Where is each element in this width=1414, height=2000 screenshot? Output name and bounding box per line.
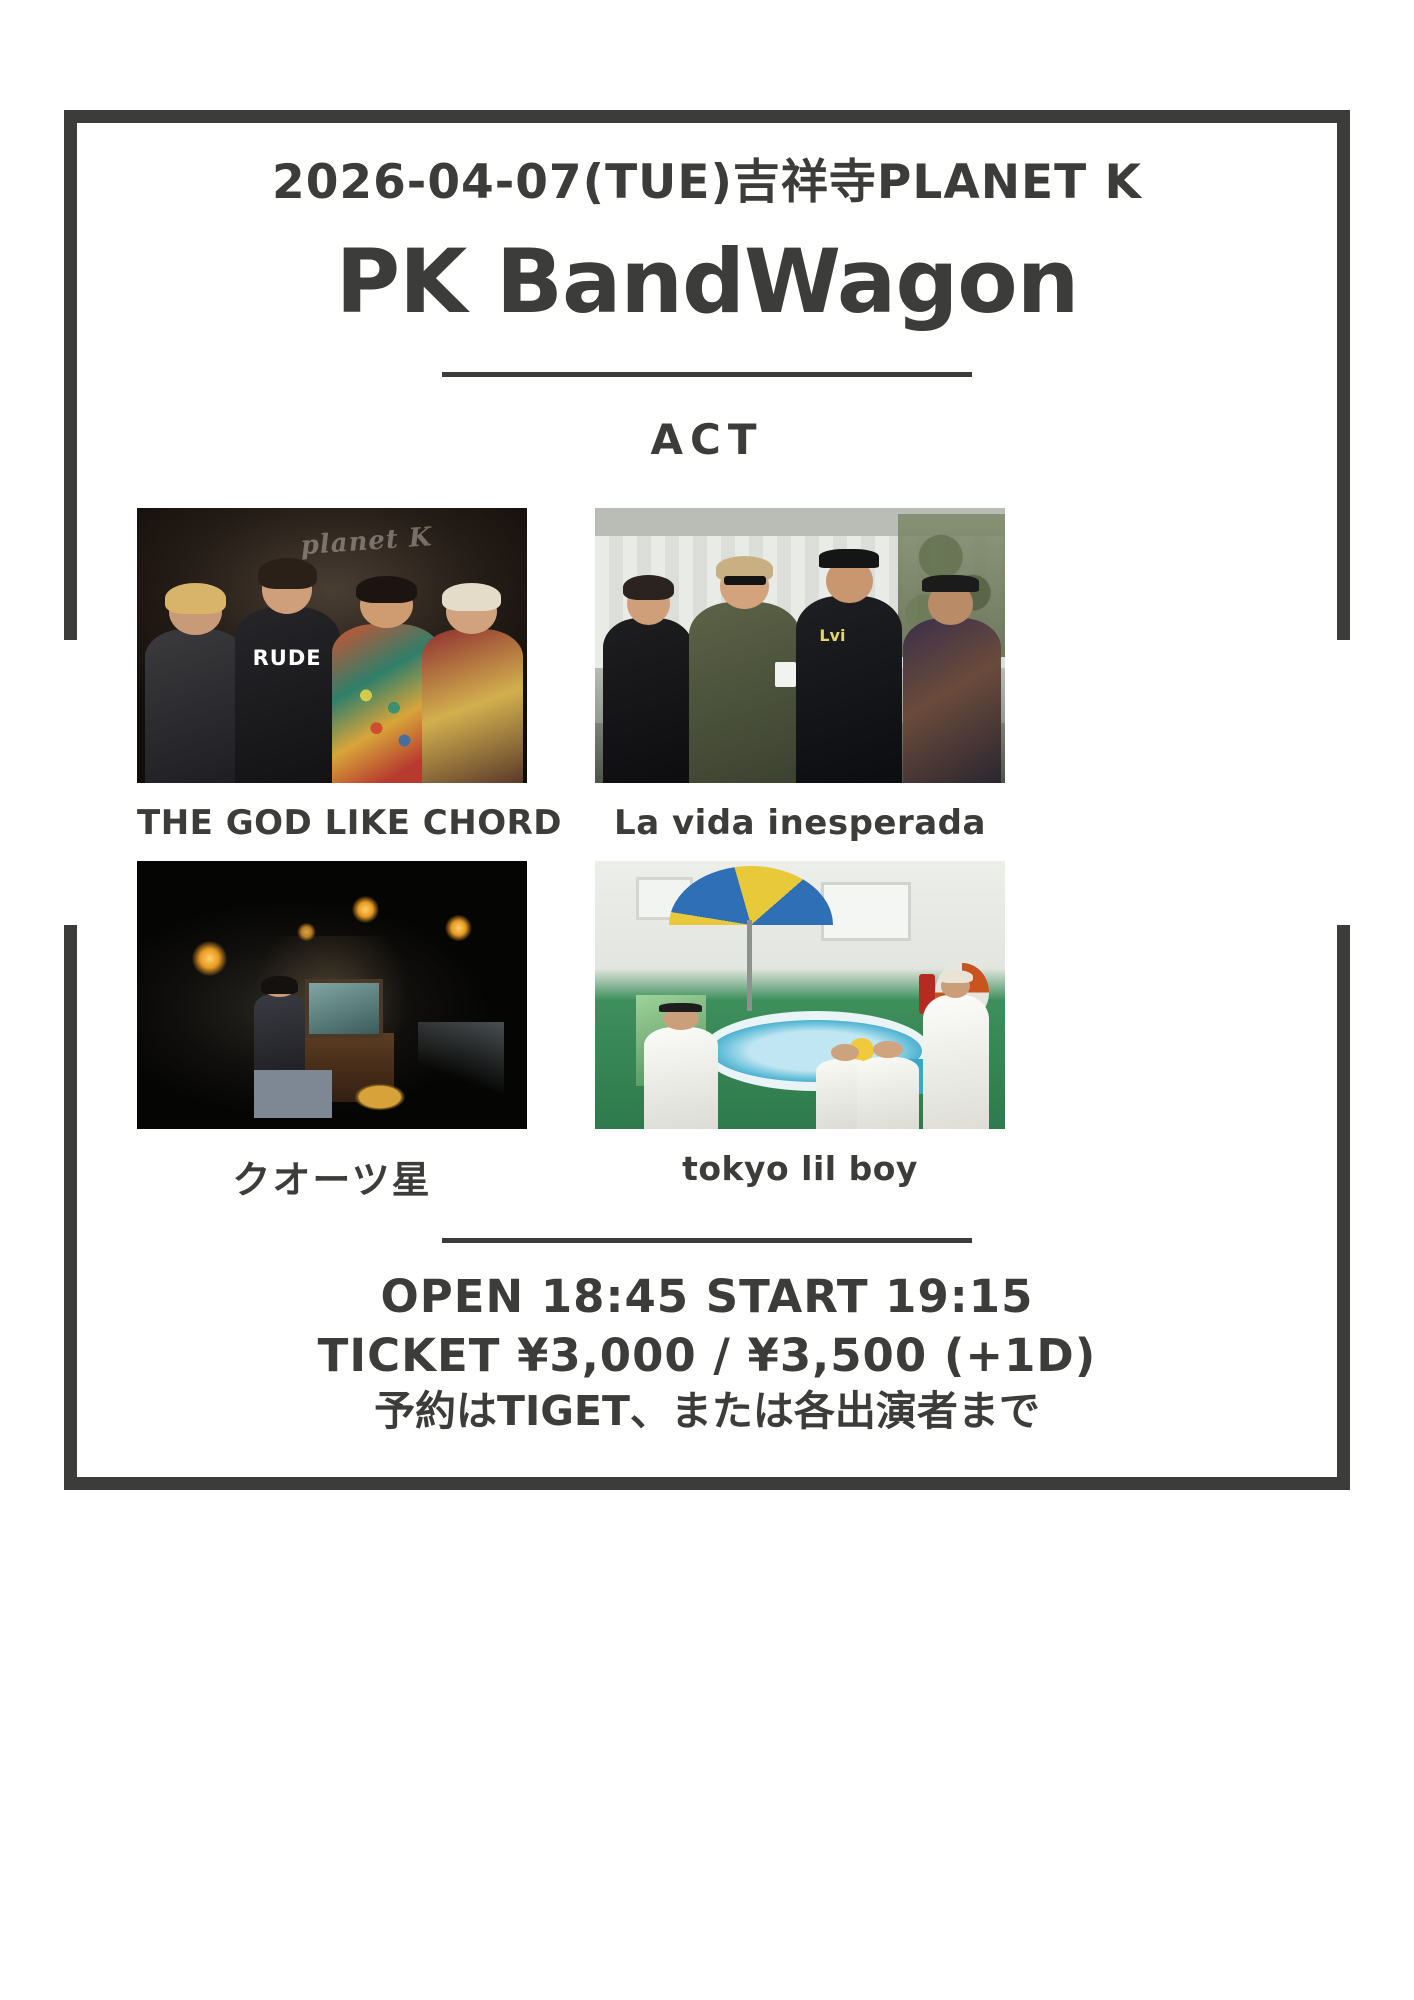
band-photo-tokyo-lil-boy <box>595 861 1005 1129</box>
band-member-legs <box>254 1070 332 1118</box>
info-ticket: TICKET ¥3,000 / ¥3,500 (+1D) <box>0 1327 1414 1386</box>
act-item: クオーツ星 <box>137 861 527 1204</box>
band-member <box>644 1027 718 1129</box>
band-member: RUDE <box>235 607 340 783</box>
divider-top <box>442 372 972 377</box>
graffiti-text: planet K <box>299 518 481 574</box>
guitar <box>355 1081 410 1113</box>
event-date-venue: 2026-04-07(TUE)吉祥寺PLANET K <box>0 143 1414 212</box>
event-info-block: OPEN 18:45 START 19:15 TICKET ¥3,000 / ¥… <box>0 1268 1414 1438</box>
beach-umbrella <box>669 866 833 925</box>
event-flyer: 2026-04-07(TUE)吉祥寺PLANET K PK BandWagon … <box>0 0 1414 2000</box>
act-name: THE GOD LIKE CHORD <box>137 803 527 843</box>
act-item: Lvi La vida inesperada <box>595 508 1005 843</box>
info-open-start: OPEN 18:45 START 19:15 <box>0 1268 1414 1327</box>
band-member <box>689 602 800 784</box>
band-photo-the-god-like-chord: planet K RUDE <box>137 508 527 783</box>
act-heading: ACT <box>0 415 1414 464</box>
screen-panel <box>305 979 383 1038</box>
act-item: tokyo lil boy <box>595 861 1005 1204</box>
divider-bottom <box>442 1238 972 1243</box>
info-reservation: 予約はTIGET、または各出演者まで <box>0 1385 1414 1438</box>
band-member: Lvi <box>796 596 903 783</box>
window <box>821 882 911 941</box>
paper-cup <box>775 662 796 687</box>
act-lineup-grid: planet K RUDE THE GOD LIKE CHORD <box>137 508 1277 1204</box>
band-member <box>923 995 989 1129</box>
stage-lamp <box>445 915 472 942</box>
shirt-pattern <box>352 679 422 762</box>
stage-lamp <box>192 941 227 976</box>
band-photo-quartz-sei <box>137 861 527 1129</box>
event-title: PK BandWagon <box>0 238 1414 326</box>
stage-lamp <box>352 896 379 923</box>
band-member <box>603 618 693 783</box>
act-name: La vida inesperada <box>595 803 1005 843</box>
light-stand <box>418 1022 504 1097</box>
band-member <box>903 618 1001 783</box>
frame-notch-left <box>58 640 78 925</box>
band-member <box>857 1057 919 1129</box>
frame-notch-right <box>1336 640 1356 925</box>
umbrella-pole <box>747 920 753 1011</box>
act-item: planet K RUDE THE GOD LIKE CHORD <box>137 508 527 843</box>
act-name: クオーツ星 <box>137 1149 527 1204</box>
act-name: tokyo lil boy <box>595 1149 1005 1188</box>
band-photo-la-vida-inesperada: Lvi <box>595 508 1005 783</box>
band-member <box>422 629 523 783</box>
band-member <box>145 629 246 783</box>
